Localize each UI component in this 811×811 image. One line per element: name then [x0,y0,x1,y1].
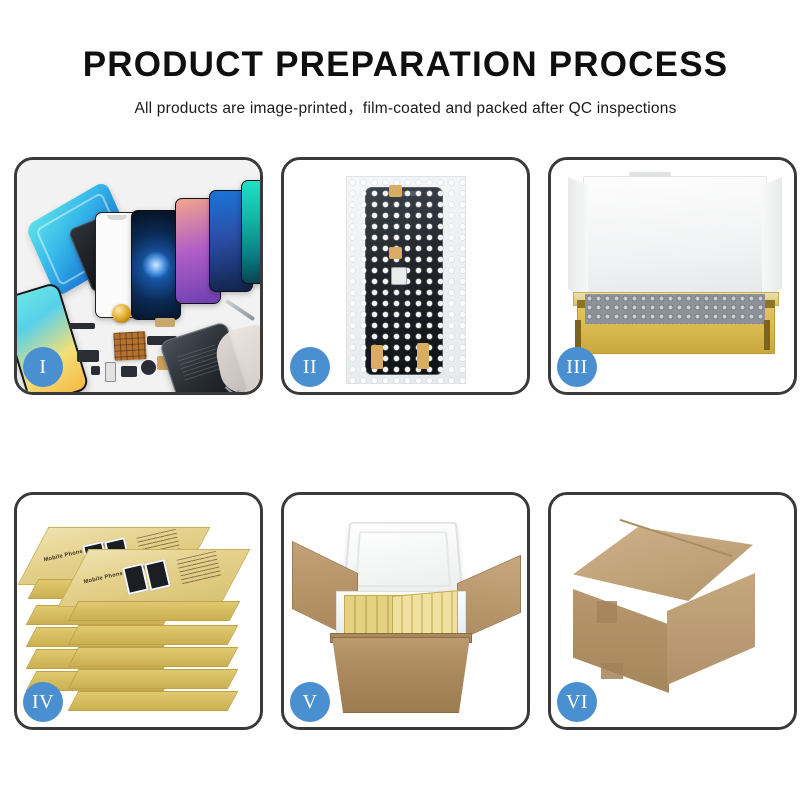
box-corner [764,320,770,350]
small-part [69,323,95,329]
gold-component [112,304,131,323]
step-badge-5: V [290,682,330,722]
small-part [105,362,116,382]
box-corner [575,320,581,350]
box-side [68,691,239,711]
step-badge-1: I [23,347,63,387]
foam-lid [342,522,463,598]
small-part [141,360,156,375]
process-step-panel-6: VI [548,492,797,730]
step-badge-4: IV [23,682,63,722]
small-part [91,366,100,375]
small-part [77,350,99,362]
carton-tape [601,663,623,679]
adhesive-tab [389,247,402,259]
process-step-panel-3: III [548,157,797,395]
page-title: PRODUCT PREPARATION PROCESS [0,0,811,84]
process-step-grid: I II [14,157,797,797]
box-side [68,669,239,689]
small-part [121,366,137,377]
adhesive-tab [371,345,383,369]
box-side [68,625,239,645]
step-badge-3: III [557,347,597,387]
process-step-panel-1: I [14,157,263,395]
adhesive-tab [417,343,429,369]
header: PRODUCT PREPARATION PROCESS All products… [0,0,811,118]
bubble-wrap-bag [346,176,466,384]
copper-chip-grid [113,331,146,361]
process-step-panel-2: II [281,157,530,395]
step-badge-6: VI [557,682,597,722]
step-badge-2: II [290,347,330,387]
phone-teal-screen [241,180,260,284]
product-preparation-infographic: PRODUCT PREPARATION PROCESS All products… [0,0,811,811]
connector [391,267,407,285]
process-step-panel-4: Mobile Phone Spare Parts Mobile Phone Sp… [14,492,263,730]
adhesive-tab [389,185,402,197]
carton-tape [597,601,617,623]
phone-lineup [95,184,245,314]
box-side [68,601,241,621]
screws [224,386,244,392]
page-subtitle: All products are image-printed，film-coat… [0,84,811,118]
small-part [155,318,175,327]
white-box-lid [583,176,767,306]
carton-flap-right [457,555,521,641]
bubble-wrapped-contents [585,294,765,324]
carton-front [332,637,470,713]
process-step-panel-5: V [281,492,530,730]
box-stack: Mobile Phone Spare Parts Mobile Phone Sp… [27,521,251,713]
lid-tab [629,172,671,177]
box-side [68,647,239,667]
phone-blue-screen [131,210,181,320]
